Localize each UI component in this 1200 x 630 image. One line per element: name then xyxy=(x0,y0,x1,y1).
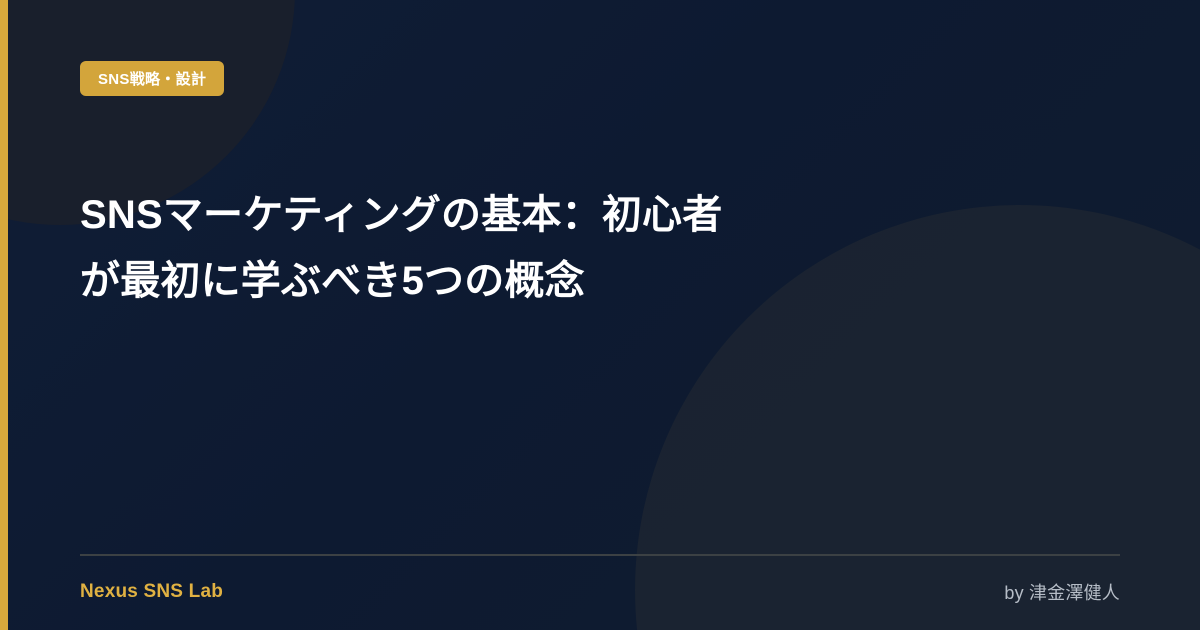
author-byline: by 津金澤健人 xyxy=(1004,579,1120,605)
og-image-card: SNS戦略・設計 SNSマーケティングの基本：初心者 が最初に学ぶべき5つの概念… xyxy=(0,0,1200,630)
footer-row: Nexus SNS Lab by 津金澤健人 xyxy=(80,554,1120,630)
card-content: SNS戦略・設計 SNSマーケティングの基本：初心者 が最初に学ぶべき5つの概念… xyxy=(80,0,1120,630)
category-badge: SNS戦略・設計 xyxy=(80,61,224,96)
page-title-line-2: が最初に学ぶべき5つの概念 xyxy=(80,248,810,314)
page-title: SNSマーケティングの基本：初心者 が最初に学ぶべき5つの概念 xyxy=(80,182,810,314)
left-accent-bar xyxy=(0,0,8,630)
card-footer: Nexus SNS Lab by 津金澤健人 xyxy=(80,554,1120,630)
site-brand-name: Nexus SNS Lab xyxy=(80,581,223,603)
page-title-line-1: SNSマーケティングの基本：初心者 xyxy=(80,182,810,248)
